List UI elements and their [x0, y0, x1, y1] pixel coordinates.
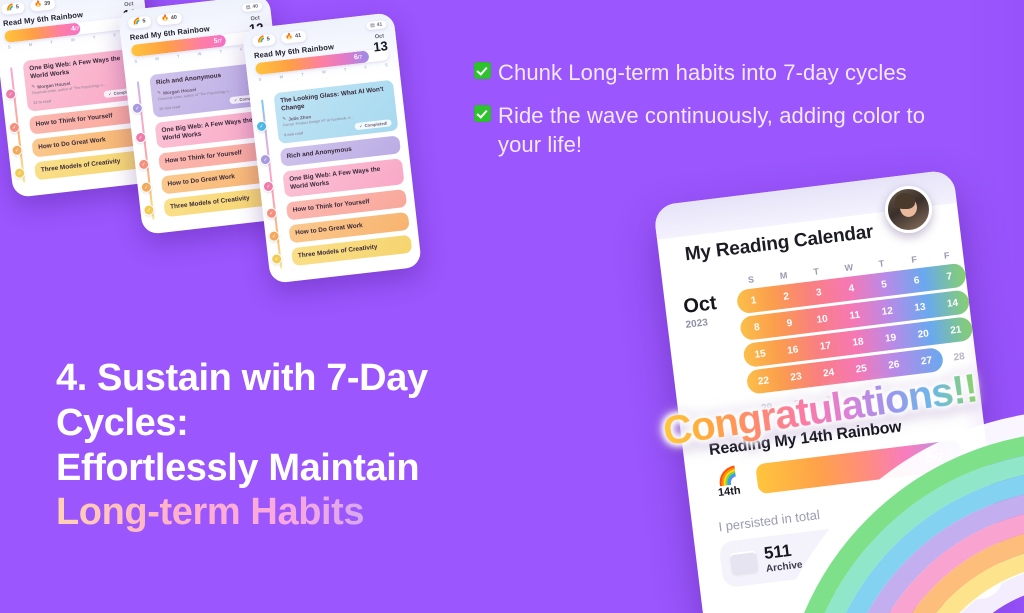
calendar-day[interactable]: 19	[874, 331, 908, 346]
calendar-day[interactable]: 18	[841, 335, 875, 350]
progress-value: 5/7	[213, 37, 222, 45]
rainbow-badge: 🌈 5	[128, 16, 152, 29]
check-icon: ✓	[359, 124, 363, 129]
rainbow-badge: 🌈 5	[1, 2, 25, 15]
calendar-day[interactable]: 13	[903, 300, 937, 315]
rainbow-icon: 🌈	[257, 36, 265, 46]
calendar-day[interactable]: 25	[844, 361, 878, 376]
calendar-day[interactable]: 27	[910, 353, 944, 368]
list-icon: ▤	[246, 4, 251, 10]
calendar-month: Oct	[682, 291, 738, 317]
calendar-day[interactable]: 5	[867, 277, 901, 292]
dow-mon: M	[767, 269, 801, 283]
calendar-day[interactable]: 17	[808, 339, 842, 354]
phone-card-cluster: ▤ 39 🌈 5 🔥 39 Read My 6th Rainbow	[0, 0, 470, 310]
bullet-text: Chunk Long-term habits into 7-day cycles	[498, 58, 907, 87]
dow-tue: T	[799, 265, 833, 279]
calendar-day[interactable]: 3	[802, 285, 836, 300]
dow-wed: W	[832, 261, 866, 275]
headline-line-2: Cycles:	[56, 401, 576, 446]
pen-icon: ✎	[282, 116, 287, 122]
phone-card-3-list: ✓ The Looking Glass: What AI Won't Chang…	[249, 72, 422, 284]
streak-badge: 🔥 41	[280, 30, 307, 44]
calendar-day[interactable]: 12	[870, 304, 904, 319]
calendar-day[interactable]: 8	[740, 320, 774, 335]
calendar-day[interactable]: 16	[776, 343, 810, 358]
archive-icon	[730, 550, 758, 575]
calendar-day[interactable]: 20	[906, 327, 940, 342]
streak-badge: 🔥 40	[156, 12, 183, 26]
calendar-day[interactable]: 4	[834, 281, 868, 296]
calendar-day[interactable]: 26	[877, 357, 911, 372]
avatar-hair	[895, 193, 915, 209]
pen-icon: ✎	[157, 90, 162, 96]
check-icon: ✓	[234, 98, 238, 103]
progress-value: 6/7	[354, 54, 363, 62]
calendar-day[interactable]: 2	[769, 289, 803, 304]
fire-icon: 🔥	[161, 15, 169, 25]
dow-sat: F	[930, 249, 964, 263]
calendar-day[interactable]: 10	[805, 312, 839, 327]
list-icon: ▤	[370, 22, 375, 28]
calendar-day[interactable]: 14	[936, 296, 970, 311]
calendar-day[interactable]: 22	[747, 373, 781, 388]
page-title: 4. Sustain with 7-Day Cycles: Effortless…	[56, 356, 576, 535]
calendar-day[interactable]: 21	[939, 323, 973, 338]
poster-canvas: ▤ 39 🌈 5 🔥 39 Read My 6th Rainbow	[0, 0, 1024, 613]
bullet-list: Chunk Long-term habits into 7-day cycles…	[474, 58, 934, 173]
bullet-text: Ride the wave continuously, adding color…	[498, 101, 934, 159]
calendar-day[interactable]: 24	[812, 365, 846, 380]
calendar-day[interactable]: 6	[900, 273, 934, 288]
calendar-day[interactable]: 23	[779, 369, 813, 384]
fire-icon: 🔥	[34, 1, 42, 11]
check-green-icon	[474, 62, 491, 79]
bullet-item: Ride the wave continuously, adding color…	[474, 101, 934, 159]
headline-line-1: 4. Sustain with 7-Day	[56, 356, 576, 401]
rainbow-icon: 🌈	[133, 18, 141, 28]
rainbow-icon: 🌈	[6, 4, 14, 14]
pen-icon: ✎	[31, 84, 36, 90]
progress-value: 4/7	[71, 25, 80, 33]
calendar-day[interactable]: 7	[932, 269, 966, 284]
streak-badge: 🔥 39	[29, 0, 56, 12]
list-item[interactable]: ✓ The Looking Glass: What AI Won't Chang…	[273, 80, 398, 145]
fire-icon: 🔥	[285, 33, 293, 43]
phone-card-3-date: Oct 13	[372, 33, 389, 54]
calendar-day[interactable]: 11	[838, 308, 872, 323]
avatar[interactable]	[885, 186, 932, 233]
completed-badge: ✓ Completed!	[355, 119, 392, 130]
headline-line-4: Long-term Habits	[56, 490, 576, 535]
dow-sun: S	[734, 273, 768, 287]
calendar-day[interactable]: 1	[737, 293, 771, 308]
headline-line-3: Effortlessly Maintain	[56, 446, 576, 491]
dow-thu: T	[865, 257, 899, 271]
rainbow-badge: 🌈 5	[252, 34, 276, 47]
bullet-item: Chunk Long-term habits into 7-day cycles	[474, 58, 934, 87]
rainbow-badge: 🌈 14th	[708, 466, 749, 500]
dow-fri: F	[897, 253, 931, 267]
phone-card-3[interactable]: ▤ 41 🌈 5 🔥 41 Read My 6th Rainbow	[242, 12, 422, 284]
calendar-day[interactable]: 28	[942, 349, 976, 364]
rainbow-arc-icon	[760, 411, 1024, 613]
calendar-day[interactable]: 9	[773, 316, 807, 331]
calendar-day[interactable]: 15	[743, 347, 777, 362]
check-green-icon	[474, 105, 491, 122]
check-icon: ✓	[108, 92, 112, 97]
